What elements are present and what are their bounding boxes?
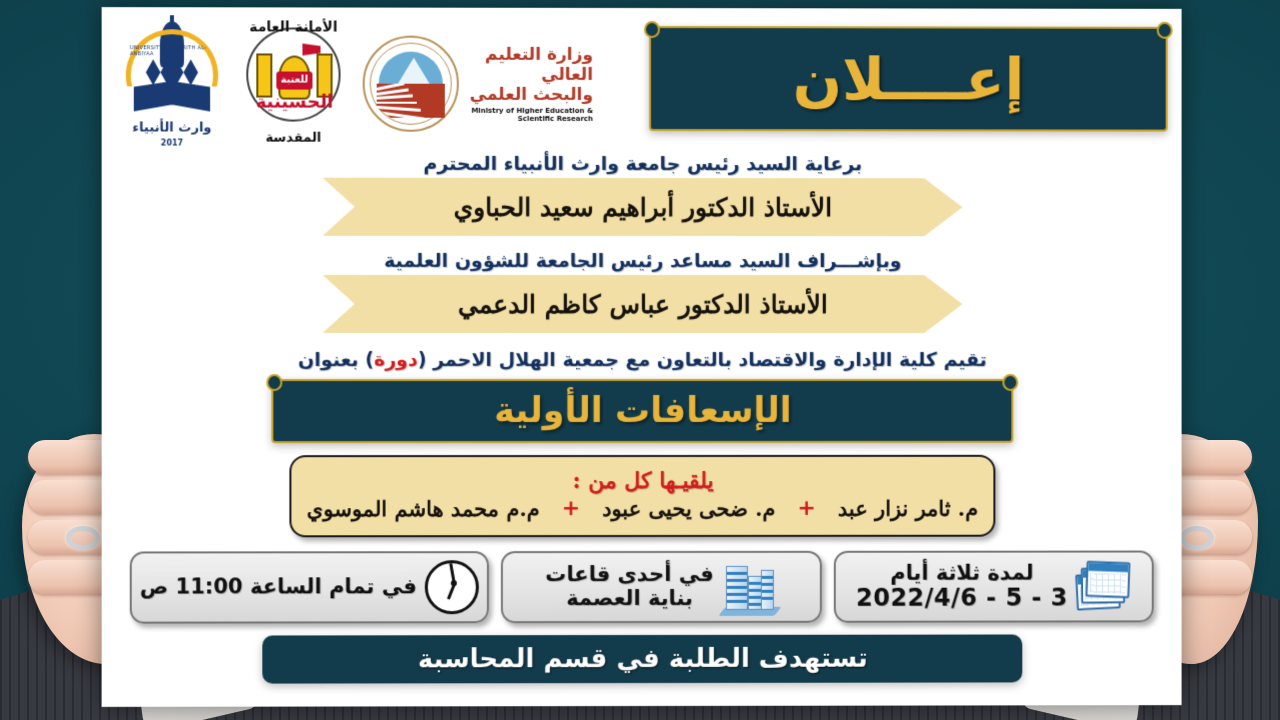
university-logo-arabic: وارث الأنبياء <box>122 120 222 135</box>
university-logo-ring-text: UNIVERSITY OF WARITH AL-ANBIYAA <box>130 45 214 105</box>
info-row: لمدة ثلاثة أيام 3 - 5 - 2022/4/6 <box>130 551 1154 624</box>
ministry-name-line2: والبحث العلمي <box>464 85 593 105</box>
date-duration-text: لمدة ثلاثة أيام <box>856 561 1068 585</box>
patron-name: الأستاذ الدكتور أبراهيم سعيد الحباوي <box>454 192 833 221</box>
ministry-logo-icon: وزارة التعليم العالي والبحث العلمي Minis… <box>363 20 593 148</box>
organizer-line-highlight: دورة <box>374 349 418 371</box>
course-title-banner: الإسعافات الأولية <box>271 379 1013 443</box>
lecturer-separator: + <box>797 495 815 520</box>
shrine-logo-center-text: للعتبة <box>276 72 312 90</box>
time-text: في تمام الساعة 11:00 ص <box>140 575 417 599</box>
patron-intro-text: برعاية السيد رئيس جامعة وارث الأنبياء ال… <box>120 152 1164 175</box>
info-box-date: لمدة ثلاثة أيام 3 - 5 - 2022/4/6 <box>834 551 1154 623</box>
announcement-poster: UNIVERSITY OF WARITH AL-ANBIYAA وارث الأ… <box>102 7 1182 707</box>
page-title: إعــــلان <box>649 26 1168 132</box>
venue-line1: في أحدى قاعات <box>545 563 713 587</box>
supervisor-intro-text: وبإشـــراف السيد مساعد رئيس الجامعة للشؤ… <box>120 250 1164 272</box>
supervisor-name: الأستاذ الدكتور عباس كاظم الدعمي <box>458 289 828 318</box>
lecturer-name: م.م محمد هاشم الموسوي <box>307 496 540 521</box>
lecturer-separator: + <box>562 496 580 521</box>
lecturers-card: يلقيـها كل من : م. ثامر نزار عبد + م. ضح… <box>289 455 995 537</box>
ring-icon <box>1180 526 1214 550</box>
organizer-line: تقيم كلية الإدارة والاقتصاد بالتعاون مع … <box>120 349 1164 371</box>
lecturer-name: م. ثامر نزار عبد <box>838 495 978 520</box>
supervisor-name-plate: الأستاذ الدكتور عباس كاظم الدعمي <box>323 275 963 333</box>
calendar-icon <box>1076 562 1132 612</box>
ministry-name-english: Ministry of Higher Education & Scientifi… <box>464 107 593 123</box>
shrine-logo-top-text: الأمانة العامة <box>238 19 348 35</box>
lecturer-name: م. ضحى يحيى عبود <box>602 495 775 520</box>
lecturers-heading: يلقيـها كل من : <box>572 467 713 493</box>
shrine-logo-bottom-text: المقدسة <box>238 131 348 146</box>
university-logo-icon: UNIVERSITY OF WARITH AL-ANBIYAA وارث الأ… <box>120 19 224 147</box>
info-box-time: في تمام الساعة 11:00 ص <box>130 551 489 624</box>
clock-icon <box>425 560 479 614</box>
ring-icon <box>66 526 100 550</box>
university-logo-year: 2017 <box>122 138 222 147</box>
building-icon <box>722 558 778 616</box>
date-range-text: 3 - 5 - 2022/4/6 <box>856 585 1068 612</box>
holy-shrine-logo-icon: للعتبة الحسينية الأمانة العامة المقدسة <box>238 19 348 147</box>
info-box-venue: في أحدى قاعات بناية العصمة <box>501 551 822 623</box>
poster-scene: UNIVERSITY OF WARITH AL-ANBIYAA وارث الأ… <box>0 0 1280 720</box>
lecturers-names: م. ثامر نزار عبد + م. ضحى يحيى عبود + م.… <box>299 495 985 520</box>
ministry-name-line1: وزارة التعليم العالي <box>464 45 593 85</box>
patron-name-plate: الأستاذ الدكتور أبراهيم سعيد الحباوي <box>323 178 963 236</box>
shrine-logo-base-text: الحسينية <box>254 92 334 118</box>
organizer-line-before: تقيم كلية الإدارة والاقتصاد بالتعاون مع … <box>418 349 987 371</box>
audience-banner: تستهدف الطلبة في قسم المحاسبة <box>262 634 1022 683</box>
organizer-line-after: ) بعنوان <box>298 349 374 371</box>
venue-line2: بناية العصمة <box>545 587 713 611</box>
